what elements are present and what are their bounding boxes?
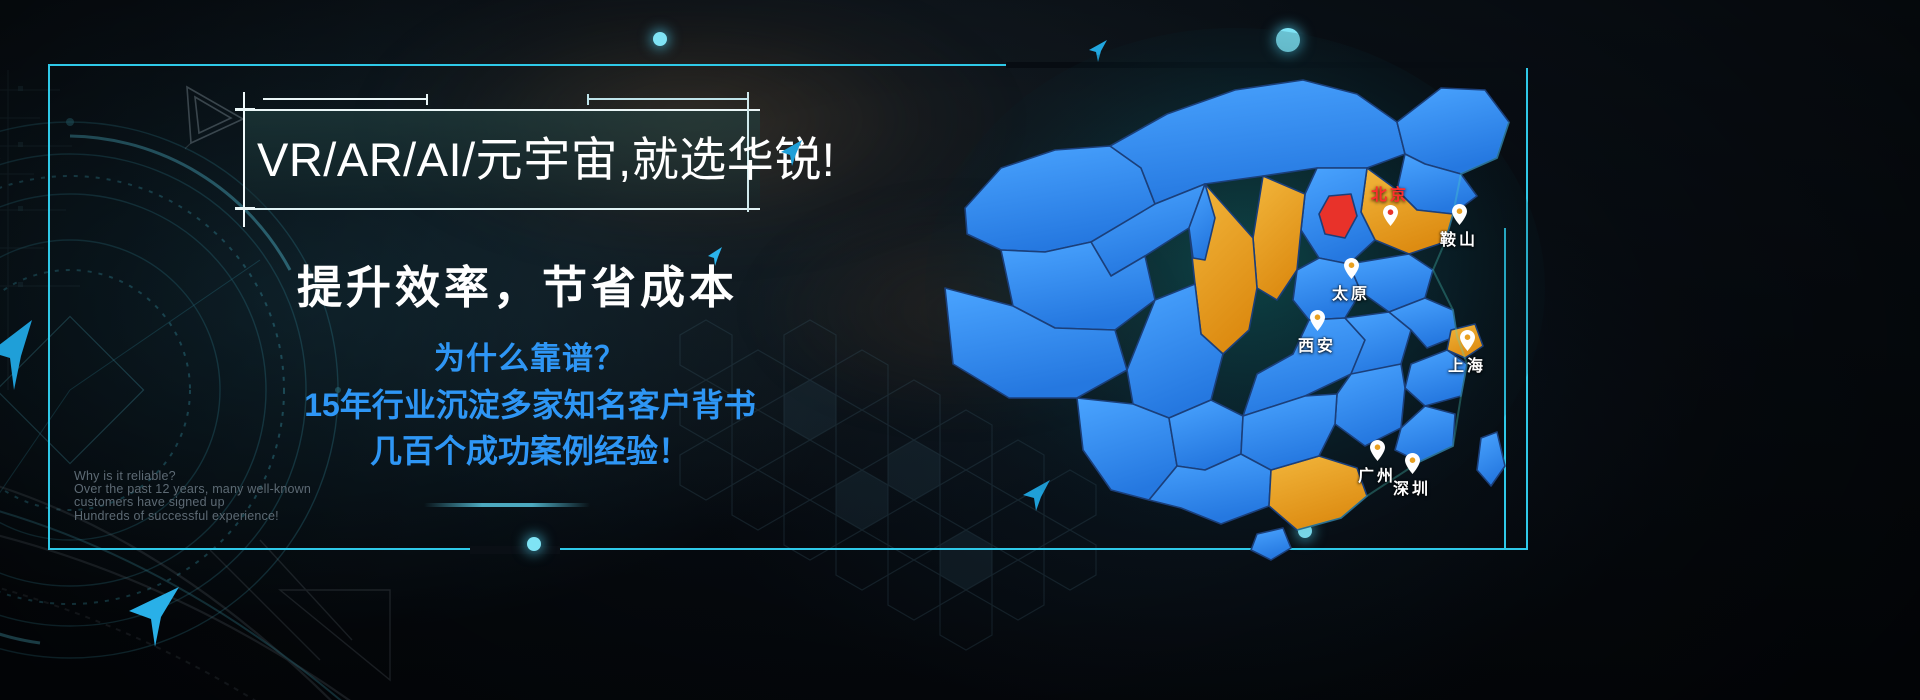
map-city-label-anshan: 鞍山: [1440, 226, 1478, 250]
dimension-line-right: [588, 98, 748, 100]
frame-bottom-gap: [470, 546, 560, 554]
english-line-3: customers have signed up: [74, 496, 404, 509]
map-city-shanghai[interactable]: 上海: [1448, 330, 1486, 376]
map-pin-icon-beijing: [1383, 205, 1398, 226]
headline-main: VR/AR/AI/元宇宙,就选华锐!: [257, 118, 757, 202]
english-line-4: Hundreds of successful experience!: [74, 510, 404, 523]
map-city-label-shanghai: 上海: [1448, 352, 1486, 376]
decor-dot-top-small: [653, 32, 667, 46]
headline-bracket-group: VR/AR/AI/元宇宙,就选华锐!: [243, 100, 760, 220]
map-city-label-taiyuan: 太原: [1332, 280, 1370, 304]
value-prop-line-3: 几百个成功案例经验！: [180, 428, 880, 474]
map-pin-icon-anshan: [1452, 204, 1467, 225]
banner-root: VR/AR/AI/元宇宙,就选华锐! 提升效率，节省成本 为什么靠谱？ 15年行…: [0, 0, 1920, 700]
headline-rule-top: [243, 109, 760, 111]
headline-tick-bottom-left: [235, 207, 255, 210]
map-city-shenzhen[interactable]: 深圳: [1393, 453, 1431, 499]
value-prop-line-1: 为什么靠谱？: [180, 336, 880, 382]
dimension-cap-right: [587, 94, 589, 105]
value-proposition-block: 为什么靠谱？ 15年行业沉淀多家知名客户背书 几百个成功案例经验！: [180, 336, 880, 474]
headline-sub: 提升效率，节省成本: [297, 251, 997, 316]
map-city-label-guangzhou: 广州: [1358, 462, 1396, 486]
arrow-cyan-5: [0, 318, 36, 399]
map-city-label-xian: 西安: [1298, 332, 1336, 356]
arrow-cyan-3: [705, 245, 725, 274]
map-city-anshan[interactable]: 鞍山: [1440, 204, 1478, 250]
map-city-label-beijing: 北京: [1371, 181, 1409, 205]
value-prop-line-2: 15年行业沉淀多家知名客户背书: [180, 382, 880, 428]
map-pin-icon-shanghai: [1460, 330, 1475, 351]
dimension-cap-left: [426, 94, 428, 105]
map-city-taiyuan[interactable]: 太原: [1332, 258, 1370, 304]
headline-rule-bottom: [243, 208, 760, 210]
english-translation-block: Why is it reliable? Over the past 12 yea…: [74, 470, 404, 523]
map-city-label-shenzhen: 深圳: [1393, 475, 1431, 499]
map-pin-icon-taiyuan: [1344, 258, 1359, 279]
map-pin-icon-xian: [1310, 310, 1325, 331]
decor-dot-bottom-left: [527, 537, 541, 551]
map-city-xian[interactable]: 西安: [1298, 310, 1336, 356]
dimension-line-left: [263, 98, 428, 100]
map-pin-icon-guangzhou: [1370, 440, 1385, 461]
arrow-cyan-6: [123, 585, 183, 656]
map-city-beijing[interactable]: 北京: [1371, 180, 1409, 226]
arrow-cyan-2: [778, 138, 806, 173]
map-city-guangzhou[interactable]: 广州: [1358, 440, 1396, 486]
map-pin-icon-shenzhen: [1405, 453, 1420, 474]
underline-flourish: [424, 503, 590, 507]
headline-tick-top-left: [235, 108, 255, 111]
china-map: [905, 18, 1545, 578]
